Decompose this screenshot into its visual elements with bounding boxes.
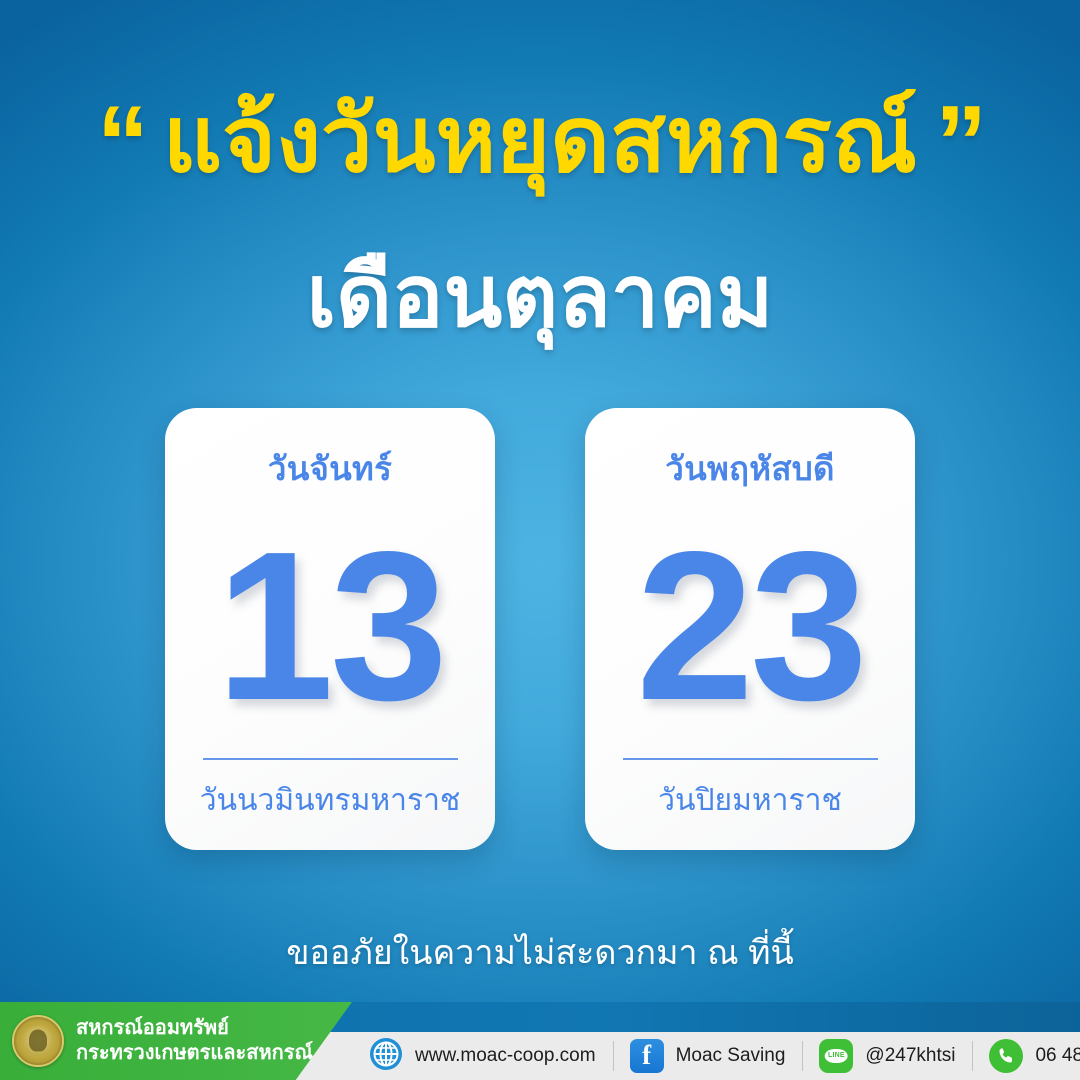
line-label: @247khtsi [865, 1045, 955, 1067]
cooperative-seal-icon [12, 1015, 64, 1067]
date-cards: วันจันทร์ 13 วันนวมินทรมหาราช วันพฤหัสบด… [0, 408, 1080, 850]
card-holiday-name: วันนวมินทรมหาราช [200, 777, 461, 824]
headline: “ แจ้งวันหยุดสหกรณ์ ” [97, 92, 983, 189]
globe-icon [369, 1037, 403, 1076]
apology-text: ขออภัยในความไม่สะดวกมา ณ ที่นี้ [0, 925, 1080, 979]
headline-text: แจ้งวันหยุดสหกรณ์ [163, 92, 917, 189]
card-date-number: 13 [216, 495, 444, 758]
card-weekday: วันพฤหัสบดี [665, 442, 835, 495]
phone-label: 06 4831 4455 [1035, 1045, 1080, 1067]
card-weekday: วันจันทร์ [268, 442, 392, 495]
contact-website[interactable]: www.moac-coop.com [352, 1032, 613, 1080]
subtitle: เดือนตุลาคม [0, 250, 1080, 345]
card-divider [203, 758, 458, 760]
date-card: วันจันทร์ 13 วันนวมินทรมหาราช [165, 408, 495, 850]
holiday-announcement-poster: “ แจ้งวันหยุดสหกรณ์ ” เดือนตุลาคม วันจัน… [0, 0, 1080, 1080]
contact-phone[interactable]: 06 4831 4455 [972, 1032, 1080, 1080]
footer-bar: สหกรณ์ออมทรัพย์ กระทรวงเกษตรและสหกรณ์ จำ… [0, 1002, 1080, 1080]
card-divider [623, 758, 878, 760]
quote-open-icon: “ [97, 96, 145, 192]
website-label: www.moac-coop.com [415, 1045, 596, 1067]
contact-facebook[interactable]: Moac Saving [613, 1032, 803, 1080]
headline-container: “ แจ้งวันหยุดสหกรณ์ ” [0, 92, 1080, 189]
org-line-1: สหกรณ์ออมทรัพย์ [76, 1016, 367, 1041]
date-card: วันพฤหัสบดี 23 วันปิยมหาราช [585, 408, 915, 850]
card-date-number: 23 [636, 495, 864, 758]
contact-line[interactable]: @247khtsi [802, 1032, 972, 1080]
quote-close-icon: ” [935, 96, 983, 192]
card-holiday-name: วันปิยมหาราช [658, 777, 842, 824]
contact-list: www.moac-coop.com Moac Saving @247khtsi … [352, 1032, 1080, 1080]
facebook-icon [630, 1039, 664, 1073]
footer-org-panel: สหกรณ์ออมทรัพย์ กระทรวงเกษตรและสหกรณ์ จำ… [0, 1002, 352, 1080]
line-icon [819, 1039, 853, 1073]
phone-icon [989, 1039, 1023, 1073]
facebook-label: Moac Saving [676, 1045, 786, 1067]
